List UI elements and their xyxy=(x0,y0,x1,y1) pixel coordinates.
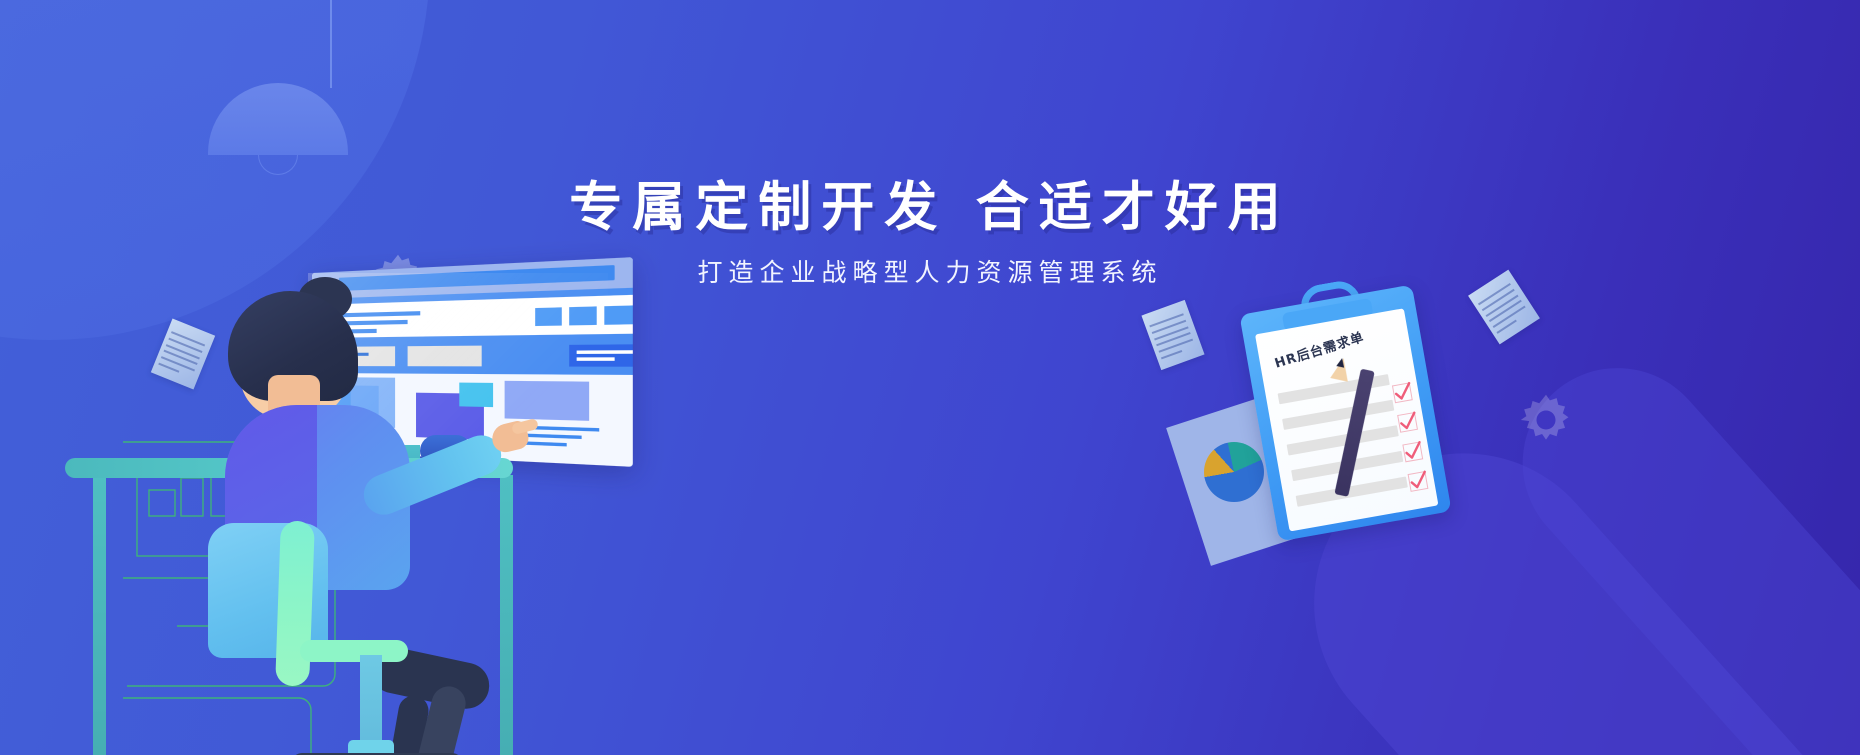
checklist-row xyxy=(1282,400,1394,430)
pie-chart xyxy=(1204,442,1264,502)
checkbox-checked[interactable] xyxy=(1392,382,1413,403)
checklist-row xyxy=(1296,476,1408,506)
browser-url-bar[interactable] xyxy=(339,265,615,291)
checkbox-checked[interactable] xyxy=(1402,441,1423,462)
hero-banner: HR后台需求单 xyxy=(0,0,1860,755)
panel-primary-button[interactable] xyxy=(569,344,633,367)
lamp-cord-icon xyxy=(330,0,332,88)
desk-leg-left xyxy=(93,475,106,755)
desk-leg-right xyxy=(500,475,513,755)
illustration-person-at-desk xyxy=(60,255,600,755)
chair-armrest xyxy=(300,640,408,662)
chair-post xyxy=(360,655,382,747)
panel-header-row xyxy=(312,295,633,338)
checkbox-checked[interactable] xyxy=(1397,412,1418,433)
gear-icon xyxy=(1518,392,1574,448)
illustration-hr-clipboard: HR后台需求单 xyxy=(1190,290,1520,620)
checkbox-checked[interactable] xyxy=(1408,471,1429,492)
panel-button[interactable] xyxy=(408,346,482,367)
